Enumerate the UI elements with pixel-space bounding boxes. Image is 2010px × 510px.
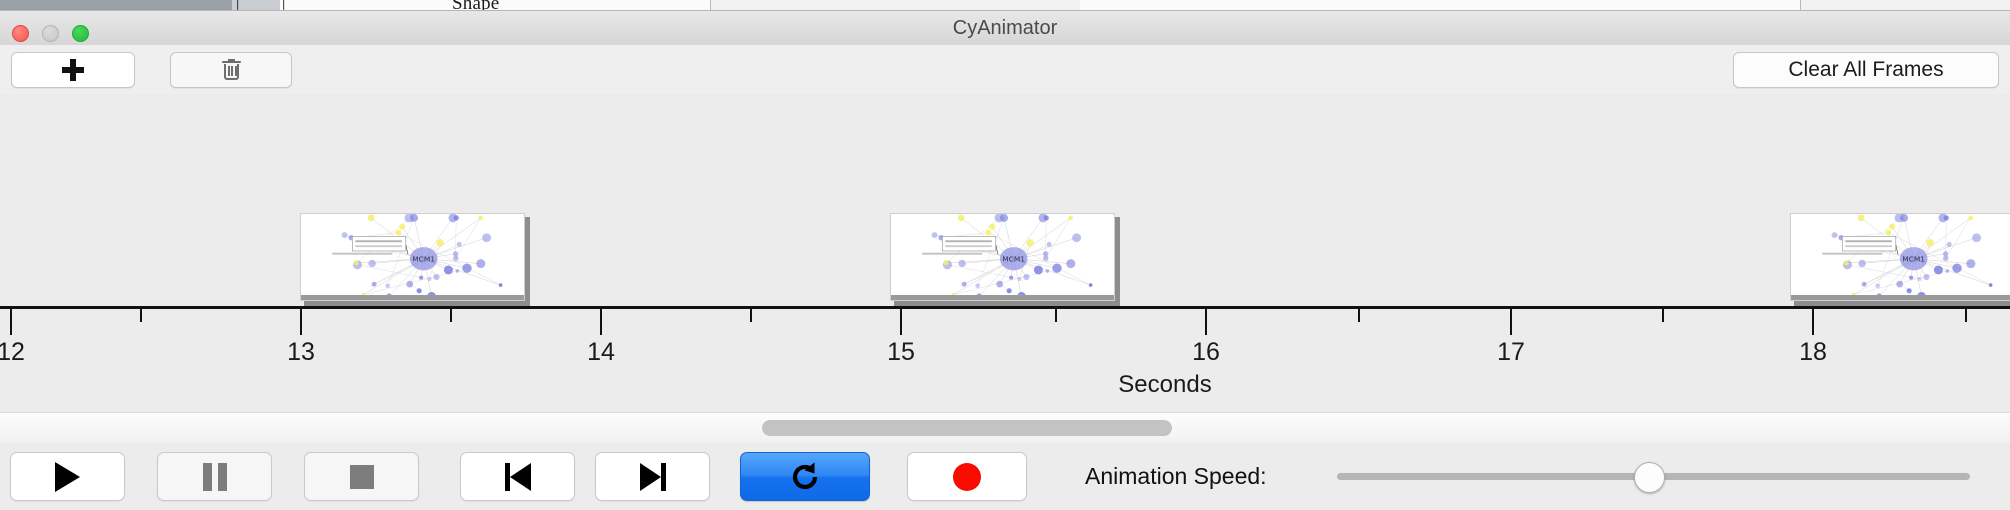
record-icon xyxy=(953,463,981,491)
axis-tick-major xyxy=(1812,309,1814,335)
window-title: CyAnimator xyxy=(0,11,2010,45)
axis-tick-minor xyxy=(1055,309,1057,322)
add-frame-button[interactable] xyxy=(11,52,135,88)
frame-network-preview: MCM1 xyxy=(1790,213,2010,301)
animation-speed-slider-thumb[interactable] xyxy=(1634,462,1665,493)
axis-tick-minor xyxy=(750,309,752,322)
stop-icon xyxy=(350,465,374,489)
axis-tick-minor xyxy=(450,309,452,322)
pause-icon xyxy=(203,463,227,491)
toolbar: Clear All Frames xyxy=(0,45,2010,95)
axis-tick-label: 16 xyxy=(1192,338,1220,367)
axis-tick-label: 13 xyxy=(287,338,315,367)
skip-back-icon xyxy=(505,463,531,491)
axis-tick-label: 18 xyxy=(1799,338,1827,367)
title-bar: CyAnimator xyxy=(0,11,2010,46)
skip-forward-icon xyxy=(640,463,666,491)
axis-caption: Seconds xyxy=(1118,371,1211,399)
axis-tick-major xyxy=(10,309,12,335)
cyanimator-window: | | Shape CyAnimator Clear All Frames MC… xyxy=(0,0,2010,510)
axis-tick-label: 14 xyxy=(587,338,615,367)
axis-tick-label: 17 xyxy=(1497,338,1525,367)
timeline-panel[interactable]: MCM1MCM1MCM1 12131415161718Seconds xyxy=(0,94,2010,412)
frame-thumbnail[interactable]: MCM1 xyxy=(300,213,525,301)
record-button[interactable] xyxy=(907,452,1027,501)
timeline-scrollbar-thumb[interactable] xyxy=(762,420,1172,436)
plus-icon xyxy=(62,59,84,81)
playback-control-bar: Animation Speed: xyxy=(0,443,2010,510)
axis-tick-minor xyxy=(140,309,142,322)
axis-tick-major xyxy=(300,309,302,335)
play-button[interactable] xyxy=(10,452,125,501)
svg-text:MCM1: MCM1 xyxy=(1902,255,1925,264)
frame-network-preview: MCM1 xyxy=(300,213,525,301)
axis-tick-major xyxy=(1205,309,1207,335)
frame-thumbnail[interactable]: MCM1 xyxy=(1790,213,2010,301)
svg-text:MCM1: MCM1 xyxy=(1002,255,1025,264)
background-window-strip: | | Shape xyxy=(0,0,2010,11)
axis-tick-minor xyxy=(1358,309,1360,322)
skip-to-end-button[interactable] xyxy=(595,452,710,501)
timeline-scrollbar[interactable] xyxy=(0,412,2010,444)
axis-tick-minor xyxy=(1965,309,1967,322)
play-icon xyxy=(55,462,80,492)
axis-tick-label: 15 xyxy=(887,338,915,367)
axis-tick-label: 12 xyxy=(0,338,25,367)
loop-button[interactable] xyxy=(740,452,870,501)
trash-icon xyxy=(222,59,241,81)
axis-tick-major xyxy=(1510,309,1512,335)
skip-to-start-button[interactable] xyxy=(460,452,575,501)
pause-button[interactable] xyxy=(157,452,272,501)
delete-frame-button[interactable] xyxy=(170,52,292,88)
loop-icon xyxy=(788,460,822,494)
axis-tick-major xyxy=(900,309,902,335)
svg-text:MCM1: MCM1 xyxy=(412,255,435,264)
animation-speed-label: Animation Speed: xyxy=(1085,452,1267,501)
stop-button[interactable] xyxy=(304,452,419,501)
axis-tick-minor xyxy=(1662,309,1664,322)
frame-thumbnail[interactable]: MCM1 xyxy=(890,213,1115,301)
frame-network-preview: MCM1 xyxy=(890,213,1115,301)
axis-tick-major xyxy=(600,309,602,335)
clear-all-frames-button[interactable]: Clear All Frames xyxy=(1733,52,1999,88)
